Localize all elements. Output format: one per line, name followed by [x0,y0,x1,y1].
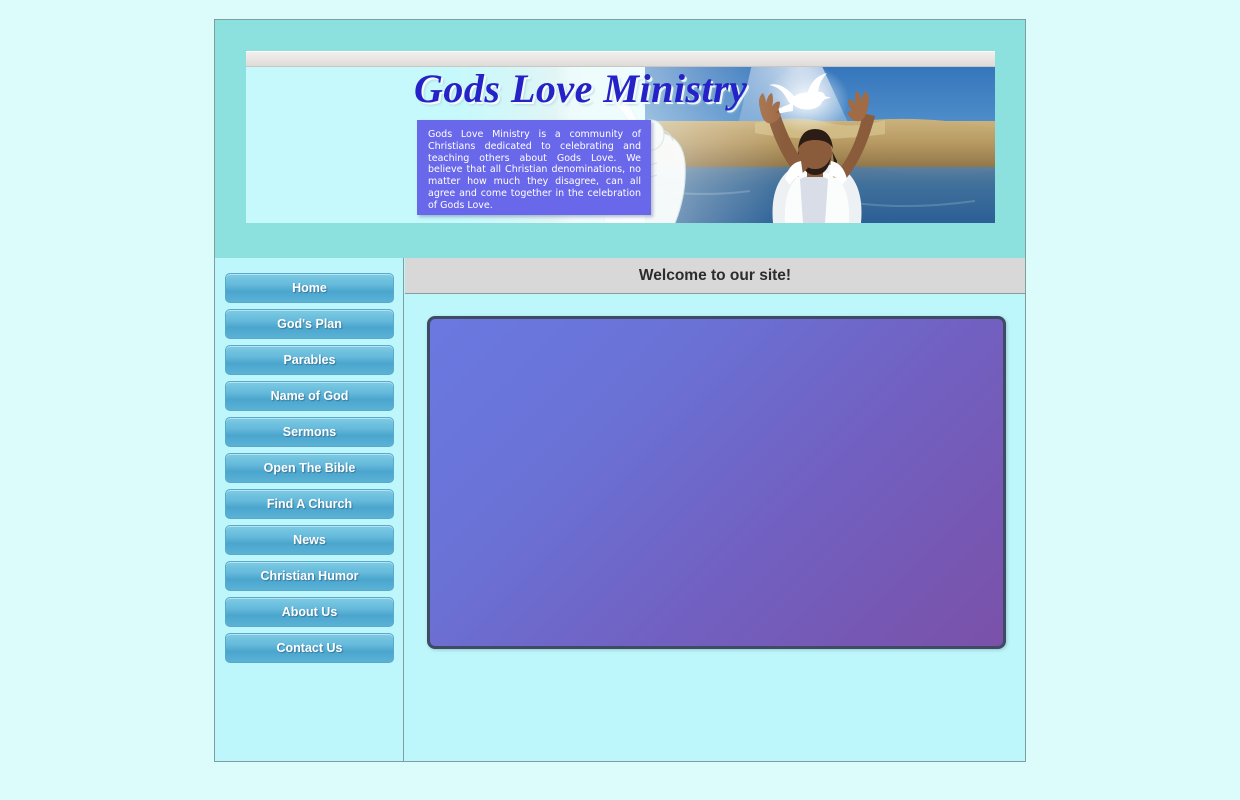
sidebar-item-about-us[interactable]: About Us [225,597,394,627]
content-panel [427,316,1006,649]
site-blurb: Gods Love Ministry is a community of Chr… [417,120,651,215]
site-banner: Gods Love Ministry Gods Love Ministry is… [215,20,1025,258]
sidebar-item-contact-us[interactable]: Contact Us [225,633,394,663]
sidebar-item-home[interactable]: Home [225,273,394,303]
body-row: Home God's Plan Parables Name of God Ser… [215,258,1025,761]
banner-inner: Gods Love Ministry Gods Love Ministry is… [246,51,995,223]
sidebar-item-christian-humor[interactable]: Christian Humor [225,561,394,591]
sidebar: Home God's Plan Parables Name of God Ser… [215,258,404,761]
site-title: Gods Love Ministry [414,65,747,112]
content-heading: Welcome to our site! [405,258,1025,294]
sidebar-item-open-the-bible[interactable]: Open The Bible [225,453,394,483]
main-content: Welcome to our site! [405,258,1025,761]
banner-top-strip [246,51,995,67]
navigation-menu: Home God's Plan Parables Name of God Ser… [225,273,394,669]
sidebar-item-gods-plan[interactable]: God's Plan [225,309,394,339]
sidebar-item-parables[interactable]: Parables [225,345,394,375]
sidebar-item-find-a-church[interactable]: Find A Church [225,489,394,519]
sidebar-item-name-of-god[interactable]: Name of God [225,381,394,411]
sidebar-item-news[interactable]: News [225,525,394,555]
page-container: Gods Love Ministry Gods Love Ministry is… [214,19,1026,762]
sidebar-item-sermons[interactable]: Sermons [225,417,394,447]
